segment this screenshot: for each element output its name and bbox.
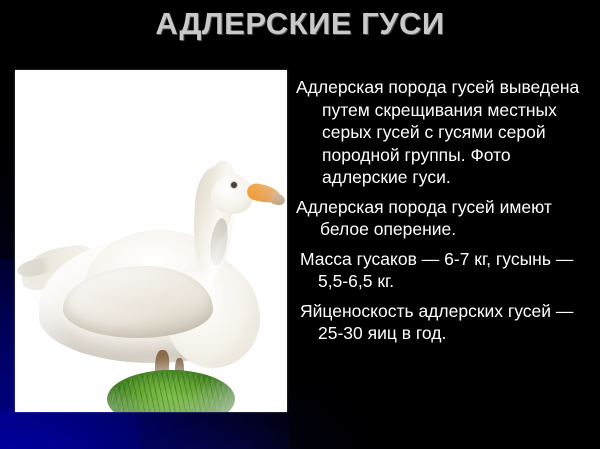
paragraph-plumage: Адлерская порода гусей имеют белое опере… [296,196,596,241]
goose-photo [15,70,287,412]
photo-panel [15,70,287,412]
paragraph-egg-yield: Яйценоскость адлерских гусей — 25-30 яиц… [296,300,596,345]
goose-beak-tip [270,192,286,206]
paragraph-origin: Адлерская порода гусей выведена путем ск… [296,76,596,189]
presentation-slide: АДЛЕРСКИЕ ГУСИ Адлерская порода гусей вы… [0,0,600,449]
slide-title: АДЛЕРСКИЕ ГУСИ [0,6,600,42]
paragraph-weight: Масса гусаков — 6-7 кг, гусынь — 5,5-6,5… [296,248,596,293]
text-column: Адлерская порода гусей выведена путем ск… [296,76,596,352]
goose-eye [231,182,237,188]
